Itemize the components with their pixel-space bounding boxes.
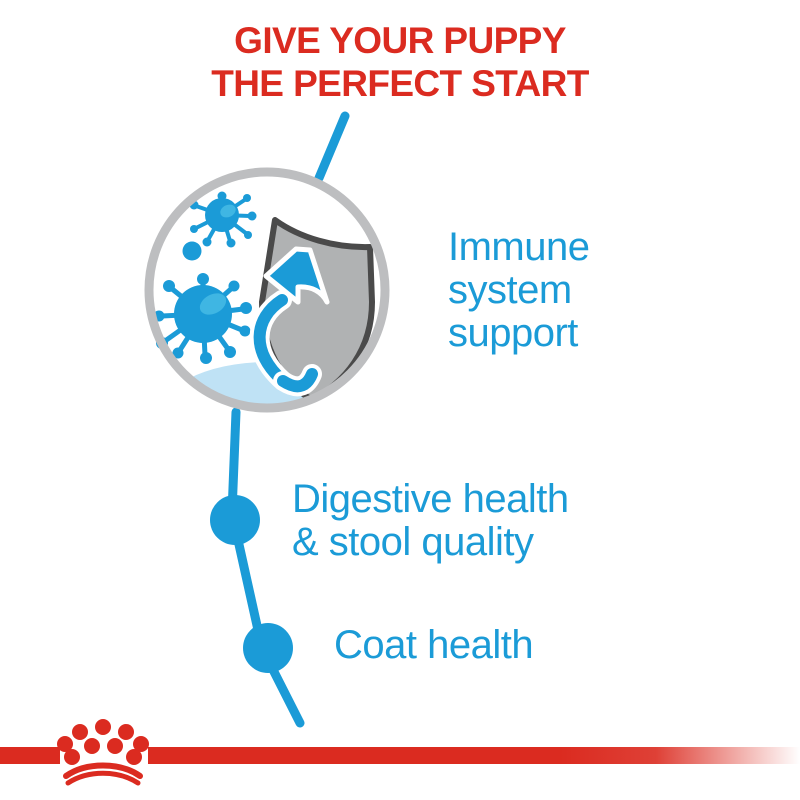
promo-card: GIVE YOUR PUPPY THE PERFECT START (0, 0, 800, 800)
illustration-layer (0, 0, 800, 800)
benefit-coat-line-1: Coat health (334, 624, 533, 667)
benefit-label-immune: Immune system support (448, 226, 590, 356)
node-dot-coat (243, 623, 293, 673)
royal-canin-crown-logo (57, 715, 149, 783)
node-dot-digestive (210, 495, 260, 545)
benefit-label-coat: Coat health (334, 624, 533, 667)
virus-dot-icon (183, 242, 202, 261)
benefit-digestive-line-1: Digestive health (292, 478, 569, 521)
benefit-immune-line-3: support (448, 312, 590, 355)
immune-shield-circle-icon (149, 172, 385, 478)
benefit-immune-line-2: system (448, 269, 590, 312)
benefit-digestive-line-2: & stool quality (292, 521, 569, 564)
benefit-immune-line-1: Immune (448, 226, 590, 269)
benefit-label-digestive: Digestive health & stool quality (292, 478, 569, 564)
